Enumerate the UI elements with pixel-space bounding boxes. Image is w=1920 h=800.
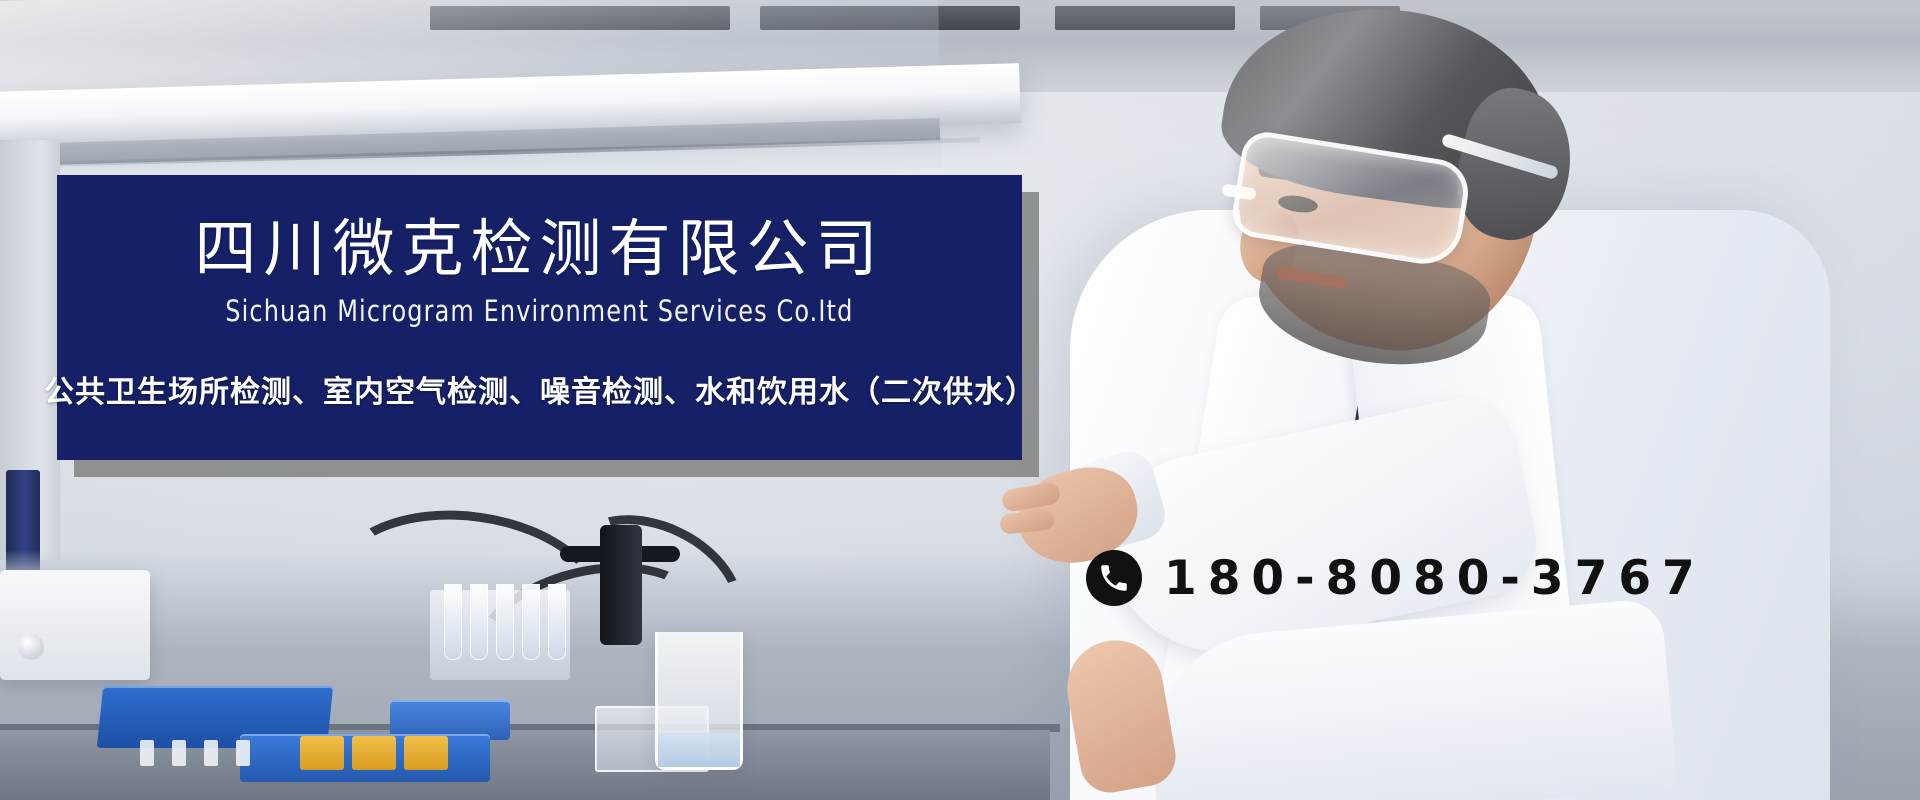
test-tube (444, 584, 462, 660)
test-tube (496, 584, 514, 660)
company-name-cn: 四川微克检测有限公司 (194, 217, 884, 282)
headline-panel: 四川微克检测有限公司 Sichuan Microgram Environment… (57, 175, 1022, 460)
amber-reagent-block (404, 736, 448, 770)
lab-instrument-box (0, 570, 150, 680)
services-list-cn: 公共卫生场所检测、室内空气检测、噪音检测、水和饮用水（二次供水） (44, 367, 1036, 411)
test-tube (548, 584, 566, 660)
company-hero-banner: 四川微克检测有限公司 Sichuan Microgram Environment… (0, 0, 1920, 800)
tray-slot (140, 740, 154, 766)
tray-slot (172, 740, 186, 766)
scientist-figure (940, 0, 1920, 800)
beaker-liquid (658, 733, 740, 767)
tray-slot (204, 740, 218, 766)
contact-phone-block[interactable]: 180-8080-3767 (1086, 550, 1706, 606)
test-tube (522, 584, 540, 660)
amber-reagent-block (352, 736, 396, 770)
test-tube (470, 584, 488, 660)
instrument-knob (18, 634, 44, 660)
tray-slot (236, 740, 250, 766)
amber-reagent-block (300, 736, 344, 770)
glass-beaker (655, 632, 743, 770)
phone-handset-icon[interactable] (1086, 550, 1142, 606)
company-name-en: Sichuan Microgram Environment Services C… (225, 294, 853, 328)
clamp-stand (600, 525, 642, 645)
phone-number-text[interactable]: 180-8080-3767 (1164, 551, 1706, 606)
